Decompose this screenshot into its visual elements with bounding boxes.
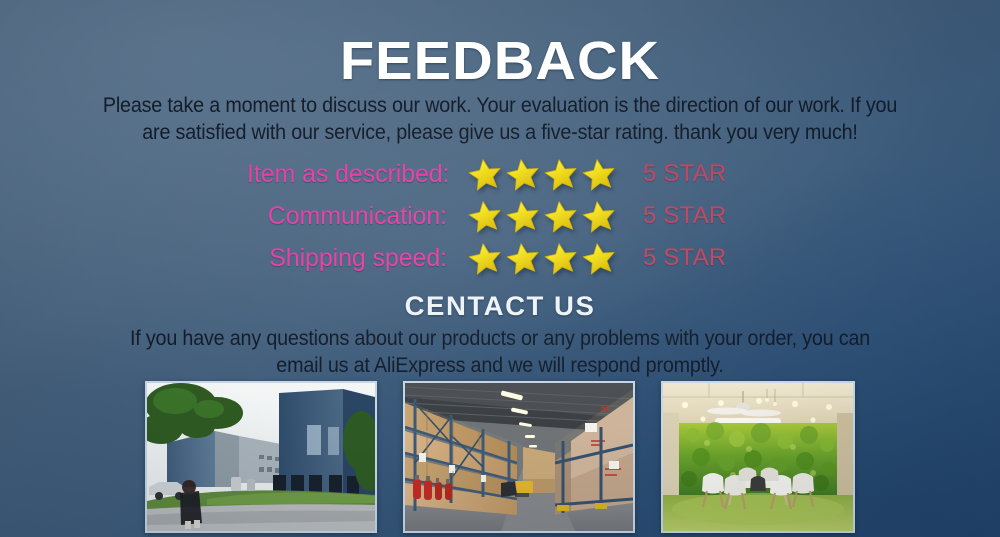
page-title: FEEDBACK — [0, 34, 1000, 88]
star-rating-communication — [467, 199, 627, 233]
feedback-banner: FEEDBACK Please take a moment to discuss… — [0, 0, 1000, 537]
rating-row: Communication: 5 STAR — [0, 195, 1000, 237]
star-icon — [467, 157, 503, 191]
star-icon — [543, 199, 579, 233]
rating-row: Item as described: 5 STAR — [0, 153, 1000, 195]
star-icon — [581, 157, 617, 191]
contact-heading: CENTACT US — [0, 291, 1000, 322]
ratings-list: Item as described: 5 STAR Communication:… — [0, 153, 1000, 279]
rating-value-item-as-described: 5 STAR — [643, 160, 753, 188]
star-icon — [505, 157, 541, 191]
rating-value-shipping-speed: 5 STAR — [643, 244, 753, 272]
rating-label-shipping-speed: Shipping speed: — [247, 244, 451, 273]
star-icon — [543, 157, 579, 191]
photo-strip — [0, 381, 1000, 533]
star-icon — [467, 199, 503, 233]
star-rating-item-as-described — [467, 157, 627, 191]
intro-paragraph: Please take a moment to discuss our work… — [96, 92, 904, 146]
rating-row: Shipping speed: 5 STAR — [0, 237, 1000, 279]
rating-value-communication: 5 STAR — [643, 202, 753, 230]
star-icon — [505, 199, 541, 233]
star-icon — [505, 241, 541, 275]
rating-label-communication: Communication: — [247, 202, 451, 231]
office-green-wall-photo — [661, 381, 855, 533]
star-rating-shipping-speed — [467, 241, 627, 275]
star-icon — [543, 241, 579, 275]
star-icon — [581, 241, 617, 275]
warehouse-interior-photo — [403, 381, 635, 533]
rating-label-item-as-described: Item as described: — [247, 160, 451, 189]
factory-exterior-photo — [145, 381, 377, 533]
star-icon — [467, 241, 503, 275]
star-icon — [581, 199, 617, 233]
contact-paragraph: If you have any questions about our prod… — [115, 325, 886, 379]
